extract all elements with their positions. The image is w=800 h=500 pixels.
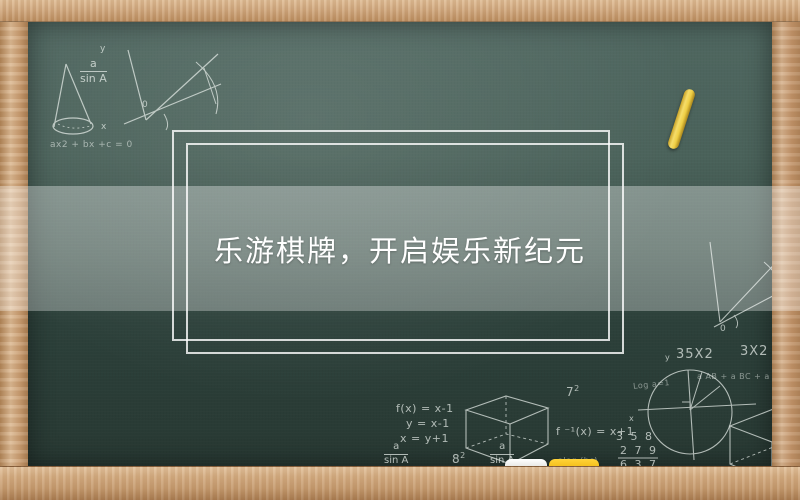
- chalk-function-line-2: y = x-1: [406, 417, 450, 430]
- chalk-axis-label-x-right: x: [629, 414, 634, 423]
- chalk-axis-label-x-topleft: x: [101, 122, 107, 132]
- chalk-angle-label-topleft: 0: [142, 100, 148, 110]
- chalk-power-seven: 72: [566, 384, 580, 399]
- chalk-fraction-a-over-sina-topleft: a sin A: [80, 58, 107, 84]
- banner-image: a sin A y x 0 ax2 + bx +c = 0 0 35X2 3X2…: [0, 0, 800, 500]
- chalk-function-line-1: f(x) = x-1: [396, 402, 454, 415]
- page-title: 乐游棋牌，开启娱乐新纪元: [0, 186, 800, 311]
- chalk-fraction-a-over-sina-left: a sin A: [384, 442, 408, 466]
- frame-top-rail: [0, 0, 800, 22]
- chalk-tray-ledge: [0, 466, 800, 500]
- chalk-division-result: 6 3 7: [620, 458, 658, 466]
- chalk-angle-label-right: 0: [720, 324, 726, 334]
- chalk-quadratic-equation: ax2 + bx +c = 0: [50, 140, 133, 150]
- chalk-axis-label-y-right: y: [665, 353, 670, 362]
- chalk-power-eight: 82: [452, 451, 466, 466]
- chalk-drawing-cube-right: [718, 392, 772, 466]
- chalk-division-dividend: 3 5 8: [616, 430, 654, 443]
- chalk-axis-label-y-topleft: y: [100, 44, 106, 54]
